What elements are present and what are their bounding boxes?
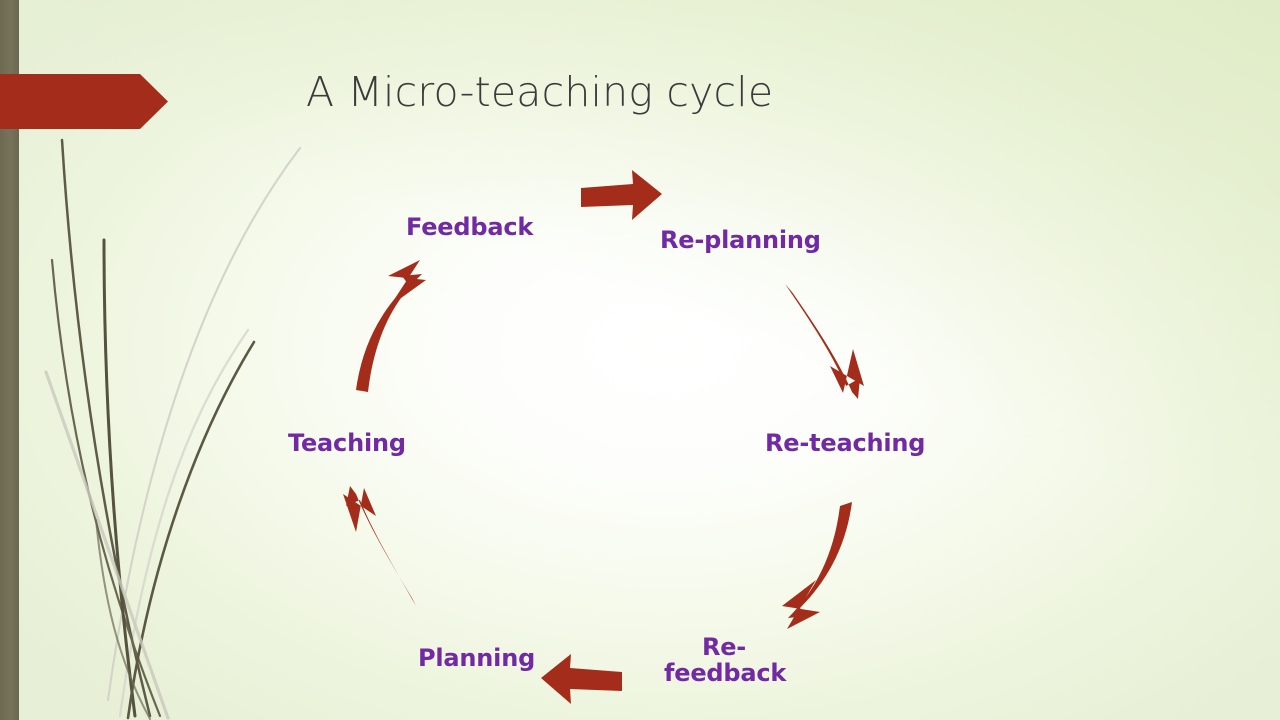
arrow-refeedback-to-planning [541,654,622,704]
cycle-node-reteaching[interactable]: Re-teaching [765,431,925,457]
cycle-node-feedback[interactable]: Feedback [406,215,533,241]
cycle-node-refeedback-line1: Re- [702,633,746,661]
cycle-node-replanning[interactable]: Re-planning [660,228,821,254]
decorative-red-chevron [0,74,168,129]
arrow-feedback-to-replanning [581,170,662,220]
arrow-teaching-to-feedback-head [388,260,426,306]
slide-canvas: A Micro-teaching cycle [0,0,1280,720]
cycle-node-teaching[interactable]: Teaching [288,431,406,457]
cycle-node-refeedback[interactable]: Re- feedback [664,635,784,687]
arrow-teaching-to-feedback [356,274,422,392]
page-title: A Micro-teaching cycle [306,68,773,116]
cycle-node-planning[interactable]: Planning [418,646,535,672]
cycle-node-refeedback-line2: feedback [664,659,786,687]
arrow-replanning-to-reteaching [785,284,860,399]
